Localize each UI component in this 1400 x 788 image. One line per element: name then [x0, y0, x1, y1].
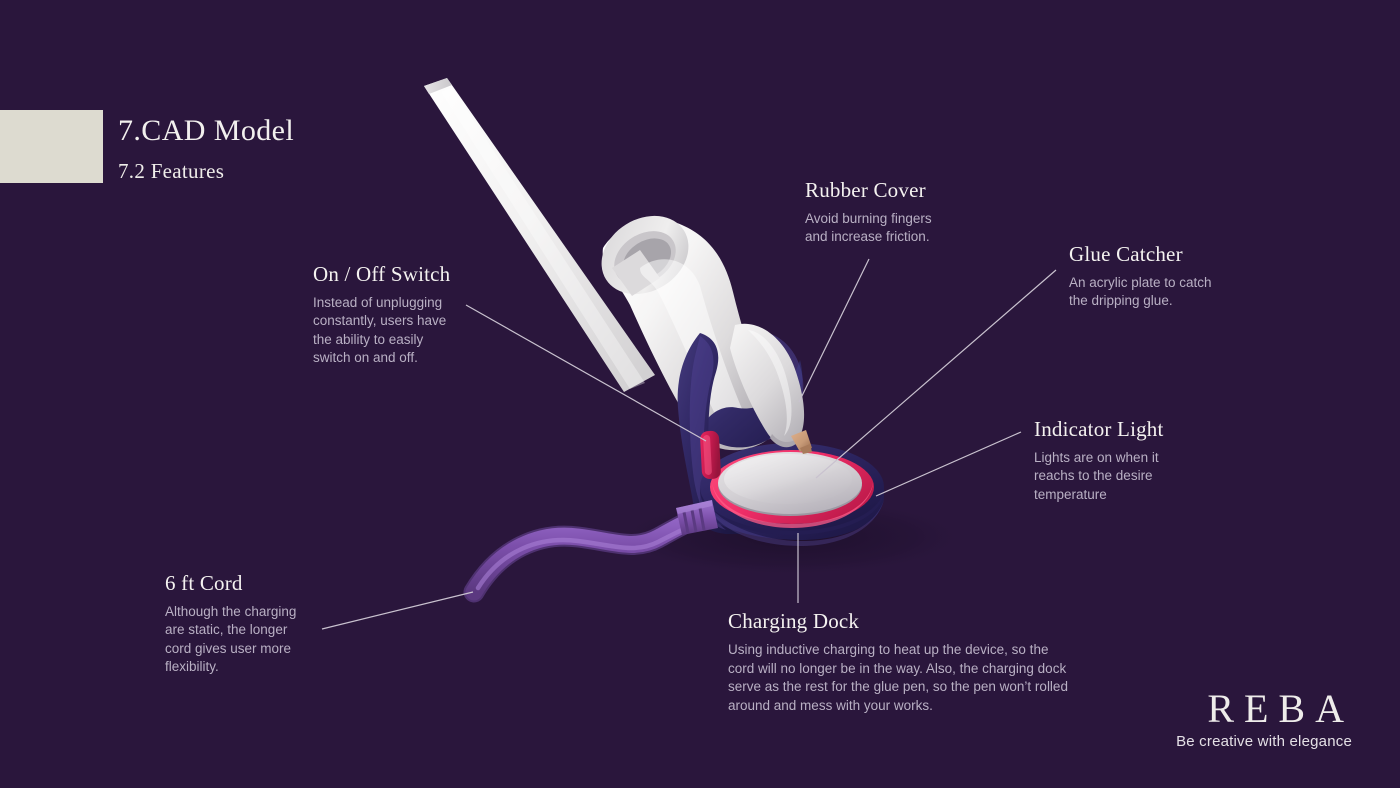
- callout-title-rubber-cover: Rubber Cover: [805, 178, 932, 203]
- leader-onoff: [466, 305, 706, 441]
- page-subtitle: 7.2 Features: [118, 159, 224, 184]
- leader-indicator: [876, 432, 1021, 496]
- callout-glue-catcher: Glue Catcher An acrylic plate to catch t…: [1069, 242, 1212, 311]
- brand-tagline: Be creative with elegance: [1176, 733, 1352, 750]
- callout-on-off-switch: On / Off Switch Instead of unplugging co…: [313, 262, 450, 368]
- leader-cord: [322, 592, 473, 629]
- leader-glue: [816, 270, 1056, 478]
- callout-title-6ft-cord: 6 ft Cord: [165, 571, 296, 596]
- leader-rubber: [799, 259, 869, 402]
- callout-indicator-light: Indicator Light Lights are on when it re…: [1034, 417, 1164, 504]
- callout-body-indicator-light: Lights are on when it reachs to the desi…: [1034, 449, 1164, 504]
- brand-name: REBA: [1176, 687, 1354, 731]
- callout-title-glue-catcher: Glue Catcher: [1069, 242, 1212, 267]
- callout-title-on-off-switch: On / Off Switch: [313, 262, 450, 287]
- callout-charging-dock: Charging Dock Using inductive charging t…: [728, 609, 1068, 715]
- callout-title-charging-dock: Charging Dock: [728, 609, 1068, 634]
- header-color-swatch: [0, 110, 103, 183]
- callout-body-on-off-switch: Instead of unplugging constantly, users …: [313, 294, 450, 368]
- callout-title-indicator-light: Indicator Light: [1034, 417, 1164, 442]
- callout-body-6ft-cord: Although the charging are static, the lo…: [165, 603, 296, 677]
- callout-body-glue-catcher: An acrylic plate to catch the dripping g…: [1069, 274, 1212, 311]
- callout-rubber-cover: Rubber Cover Avoid burning fingers and i…: [805, 178, 932, 247]
- callout-body-rubber-cover: Avoid burning fingers and increase frict…: [805, 210, 932, 247]
- page-title: 7.CAD Model: [118, 114, 294, 148]
- callout-6ft-cord: 6 ft Cord Although the charging are stat…: [165, 571, 296, 677]
- brand-lockup: REBA Be creative with elegance: [1176, 687, 1354, 750]
- callout-body-charging-dock: Using inductive charging to heat up the …: [728, 641, 1068, 715]
- slide-canvas: 7.CAD Model 7.2 Features On / Off Switch…: [0, 0, 1400, 788]
